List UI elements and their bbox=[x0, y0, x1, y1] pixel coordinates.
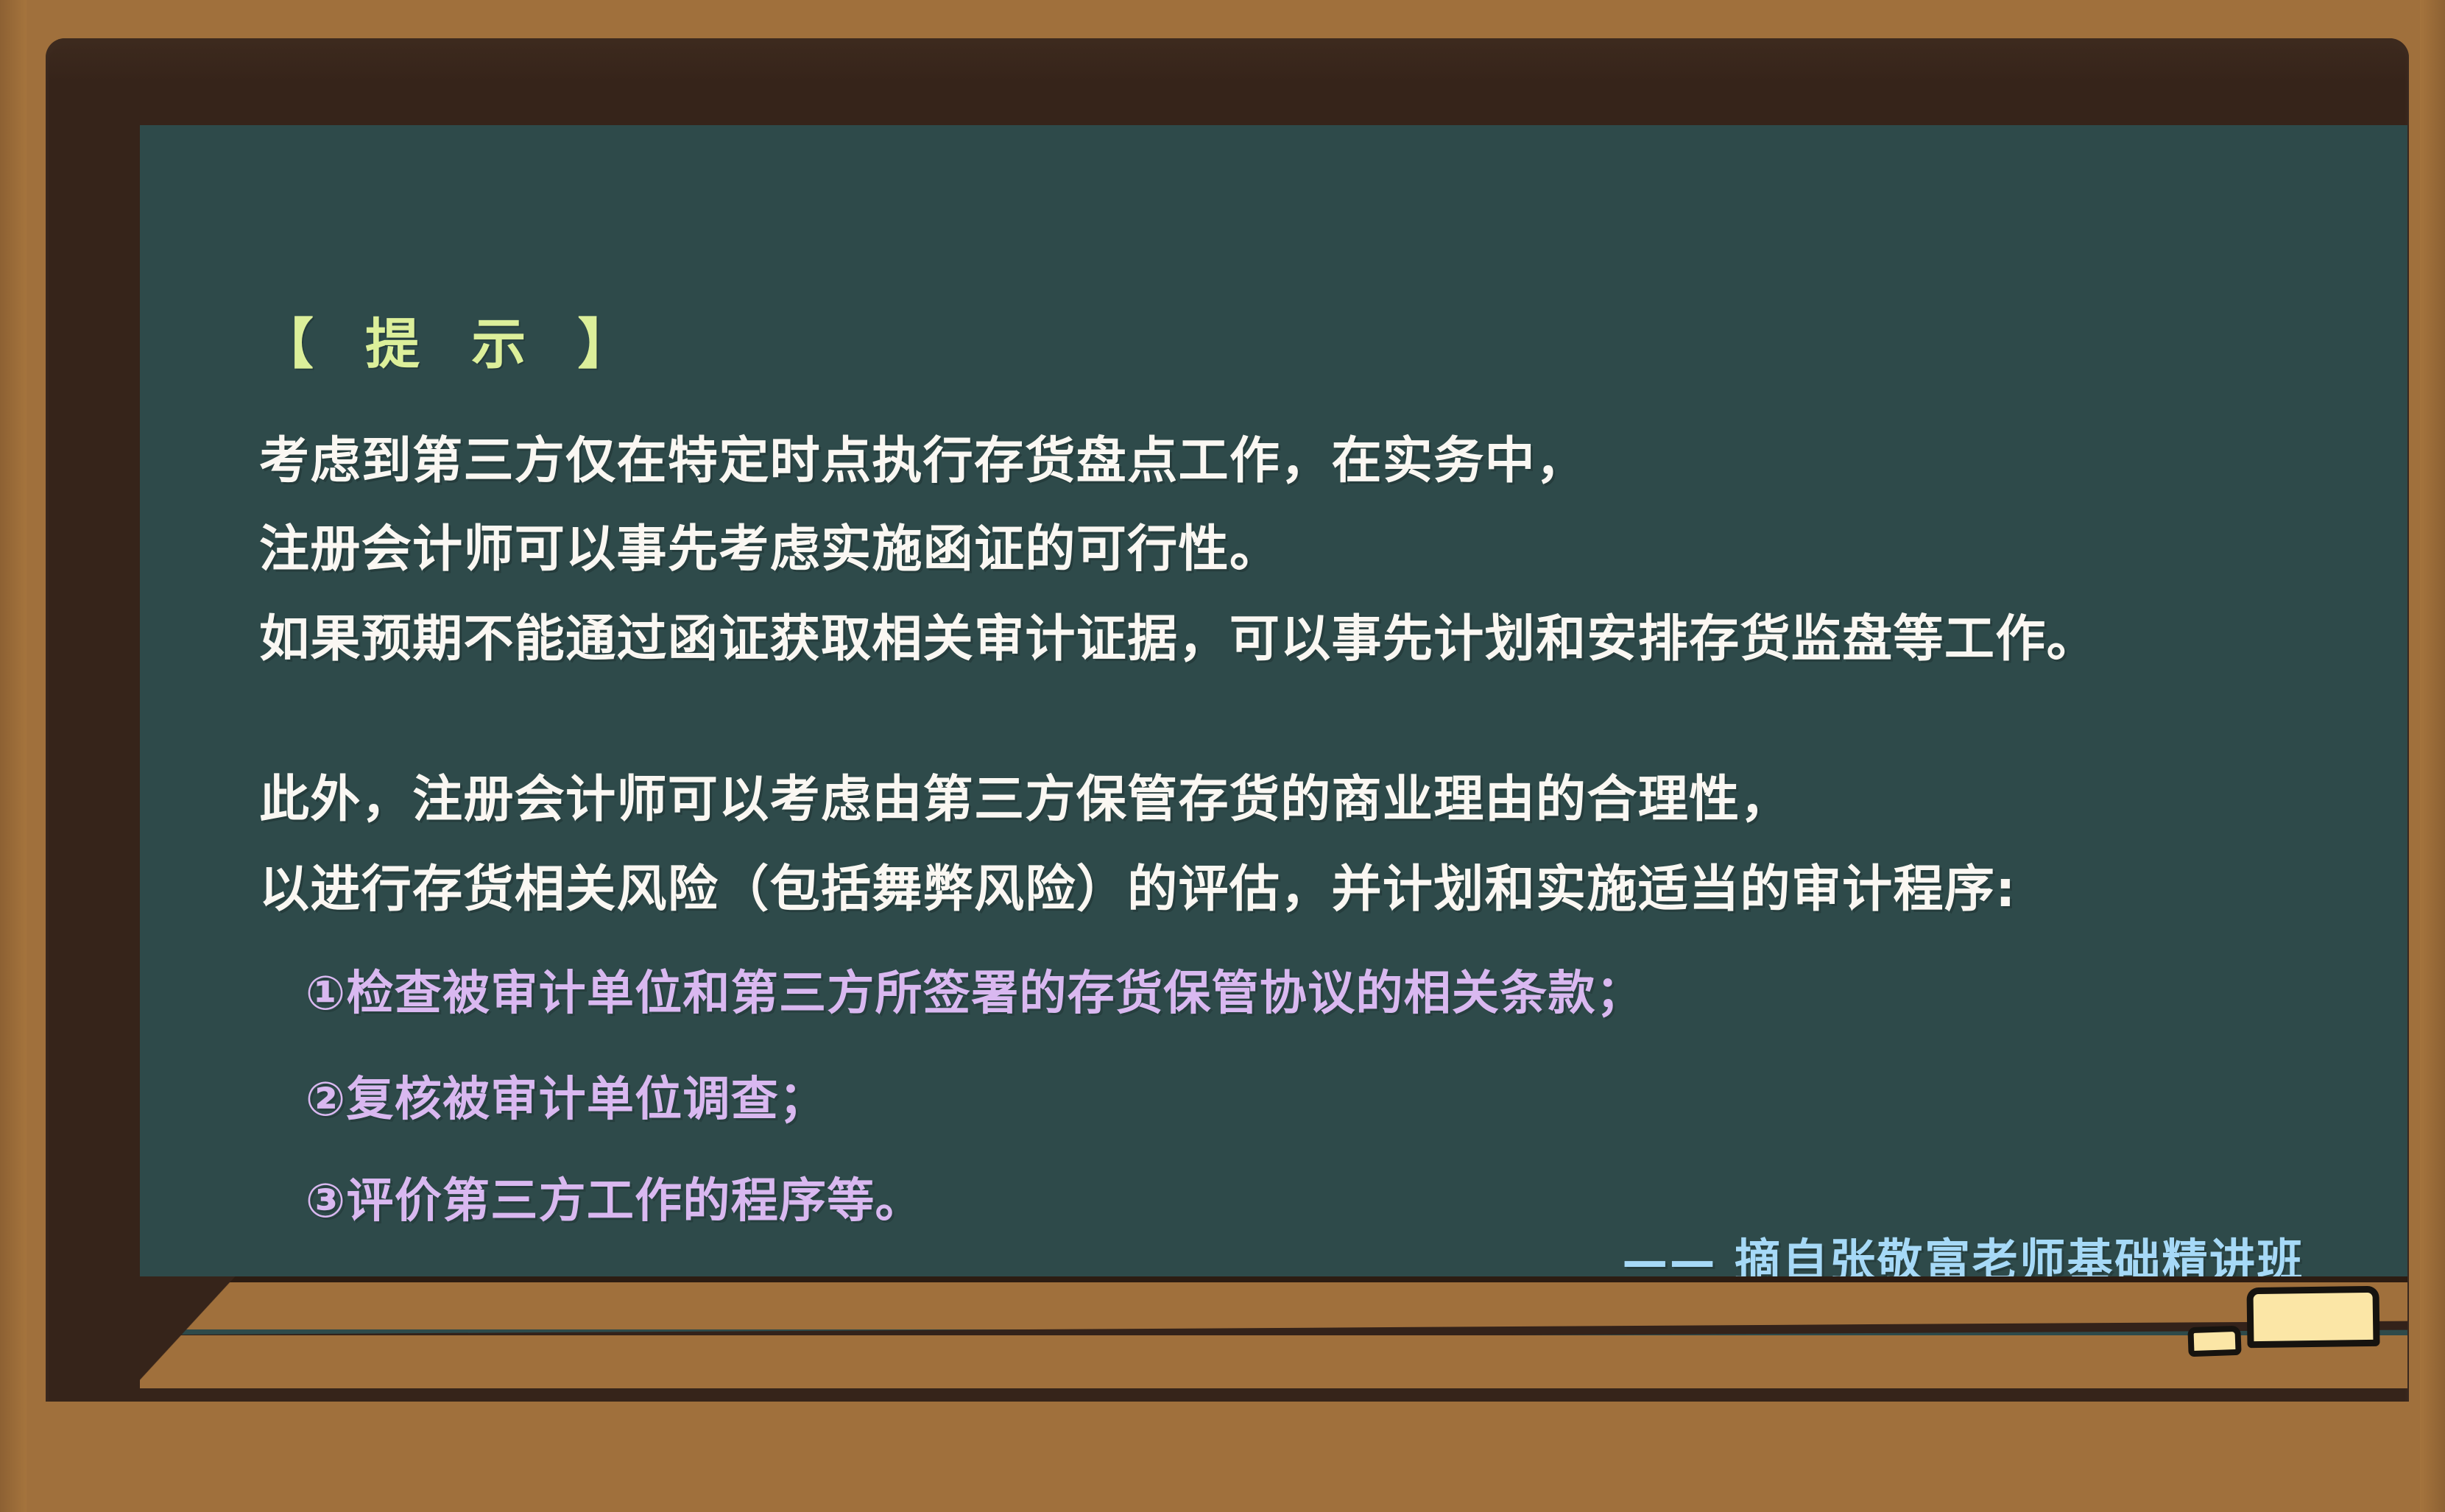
list-item: ③评价第三方工作的程序等。 bbox=[306, 1163, 923, 1231]
paragraph2-line-1: 此外，注册会计师可以考虑由第三方保管存货的商业理由的合理性， bbox=[259, 758, 1791, 831]
paragraph1-line-1: 考虑到第三方仅在特定时点执行存货盘点工作，在实务中， bbox=[259, 420, 1587, 492]
chalk-eraser-icon bbox=[2246, 1286, 2379, 1349]
chalk-stick-icon bbox=[2187, 1326, 2241, 1357]
chalkboard-content: 【 提 示 】 考虑到第三方仅在特定时点执行存货盘点工作，在实务中， 注册会计师… bbox=[169, 125, 2407, 1388]
page-title: 【 提 示 】 bbox=[259, 300, 649, 379]
list-item: ①检查被审计单位和第三方所签署的存货保管协议的相关条款； bbox=[306, 955, 1644, 1023]
paragraph2-line-2: 以进行存货相关风险（包括舞弊风险）的评估，并计划和实施适当的审计程序: bbox=[259, 848, 2017, 921]
paragraph1-line-3: 如果预期不能通过函证获取相关审计证据，可以事先计划和安排存货监盘等工作。 bbox=[259, 598, 2098, 671]
chalkboard-surface: 【 提 示 】 考虑到第三方仅在特定时点执行存货盘点工作，在实务中， 注册会计师… bbox=[140, 125, 2407, 1388]
wooden-frame: 【 提 示 】 考虑到第三方仅在特定时点执行存货盘点工作，在实务中， 注册会计师… bbox=[0, 0, 2445, 1512]
paragraph1-line-2: 注册会计师可以事先考虑实施函证的可行性。 bbox=[259, 508, 1280, 581]
list-item: ②复核被审计单位调查； bbox=[306, 1061, 827, 1129]
attribution-text: —— 摘自张敬富老师基础精讲班 bbox=[1622, 1223, 2304, 1290]
chalkboard-bezel: 【 提 示 】 考虑到第三方仅在特定时点执行存货盘点工作，在实务中， 注册会计师… bbox=[46, 38, 2409, 1402]
